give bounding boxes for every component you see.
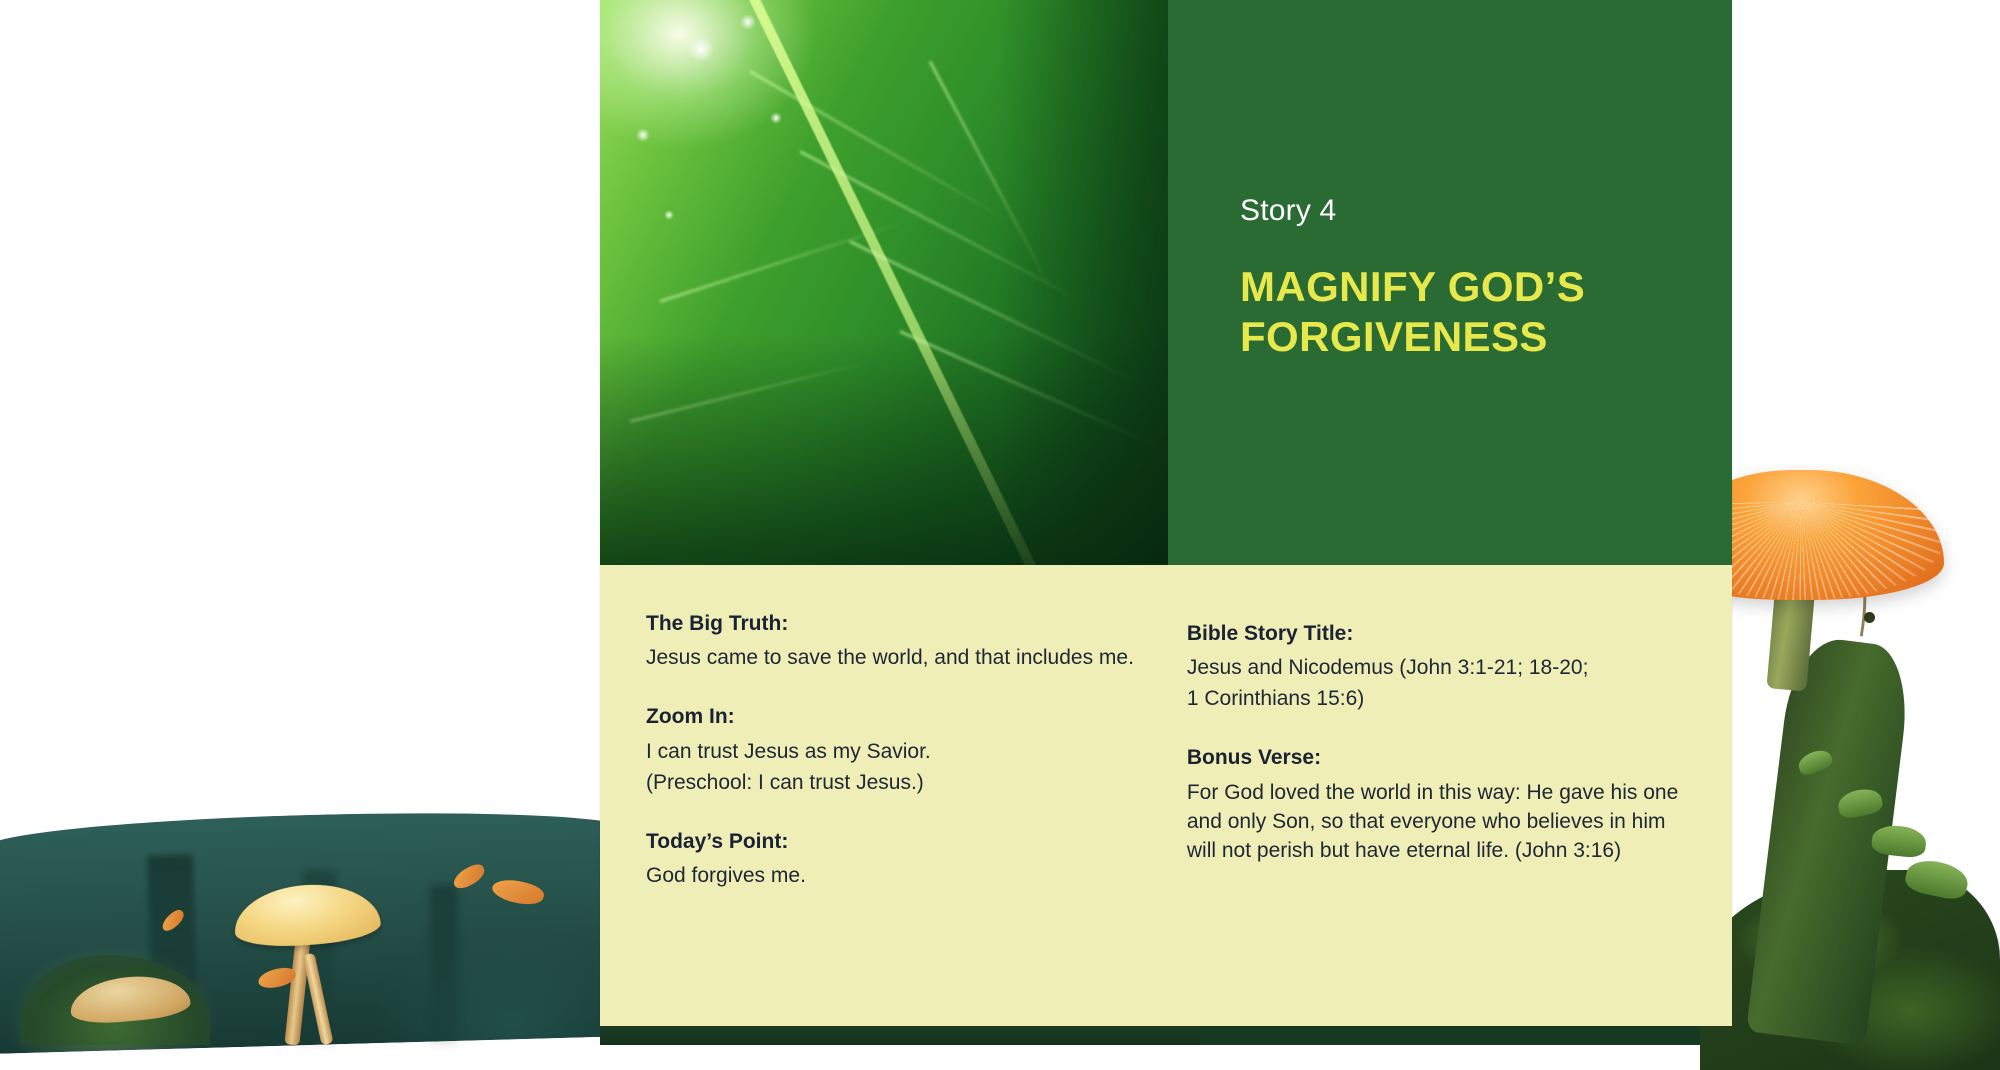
- block-text: For God loved the world in this way: He …: [1187, 779, 1682, 866]
- forest-moss-clump: [20, 955, 210, 1045]
- text-block: The Big Truth:Jesus came to save the wor…: [646, 610, 1147, 673]
- light-sparkle-icon: [636, 128, 650, 142]
- forest-tree-trunk: [430, 885, 458, 1045]
- moss-tuft: [1903, 856, 1971, 902]
- block-text: God forgives me.: [646, 862, 1147, 891]
- falling-leaf-icon: [257, 966, 298, 990]
- story-card: Story 4 MAGNIFY GOD’S FORGIVENESS The Bi…: [600, 0, 1732, 1026]
- block-label: Zoom In:: [646, 703, 1147, 731]
- forest-floor-image: [0, 806, 633, 1054]
- light-sparkle-icon: [770, 112, 782, 124]
- block-text: I can trust Jesus as my Savior.: [646, 738, 1147, 767]
- text-block: Bonus Verse:For God loved the world in t…: [1187, 744, 1682, 865]
- leaf-vein: [660, 220, 908, 303]
- falling-leaf-icon: [490, 875, 546, 909]
- card-body: The Big Truth:Jesus came to save the wor…: [600, 565, 1732, 1026]
- forest-tree-trunk: [297, 869, 337, 1045]
- falling-leaf-icon: [450, 861, 488, 892]
- card-header: Story 4 MAGNIFY GOD’S FORGIVENESS: [600, 0, 1732, 565]
- small-mushroom-icon: [68, 972, 191, 1026]
- light-sparkle-icon: [664, 210, 674, 220]
- text-block: Zoom In:I can trust Jesus as my Savior.(…: [646, 703, 1147, 797]
- yellow-mushroom-cap: [232, 880, 382, 950]
- block-label: Today’s Point:: [646, 828, 1147, 856]
- right-column: Bible Story Title:Jesus and Nicodemus (J…: [1187, 610, 1682, 1026]
- block-label: Bonus Verse:: [1187, 744, 1682, 772]
- mushroom-stem: [284, 937, 310, 1046]
- left-column: The Big Truth:Jesus came to save the wor…: [646, 610, 1187, 1026]
- leaf-shade-bottom: [600, 335, 1168, 565]
- leaf-vein: [749, 70, 1010, 223]
- moss-tuft: [1871, 823, 1928, 858]
- block-text: Jesus came to save the world, and that i…: [646, 644, 1147, 673]
- mossy-rock: [1700, 870, 2000, 1070]
- page-title: MAGNIFY GOD’S FORGIVENESS: [1240, 262, 1660, 361]
- falling-leaf-icon: [159, 907, 187, 934]
- block-text: Jesus and Nicodemus (John 3:1-21; 18-20;: [1187, 654, 1682, 683]
- mushroom-tendril: [1804, 516, 1878, 636]
- moss-tuft: [1795, 746, 1834, 777]
- light-sparkle-icon: [740, 14, 756, 30]
- block-label: Bible Story Title:: [1187, 620, 1682, 648]
- mushroom-spore-dot: [1864, 612, 1875, 623]
- forest-tree-trunk: [147, 854, 200, 1045]
- text-block: Bible Story Title:Jesus and Nicodemus (J…: [1187, 620, 1682, 714]
- block-text: 1 Corinthians 15:6): [1187, 685, 1682, 714]
- text-block: Today’s Point:God forgives me.: [646, 828, 1147, 891]
- story-number-label: Story 4: [1240, 196, 1732, 226]
- leaf-photo: [600, 0, 1168, 565]
- bottom-green-strip: [600, 1023, 2000, 1045]
- mushroom-stem: [1766, 559, 1817, 692]
- block-label: The Big Truth:: [646, 610, 1147, 638]
- title-panel: Story 4 MAGNIFY GOD’S FORGIVENESS: [1168, 0, 1732, 565]
- mossy-stalk: [1746, 634, 1914, 1046]
- light-sparkle-icon: [688, 36, 714, 62]
- mushroom-stem: [303, 953, 334, 1045]
- block-text: (Preschool: I can trust Jesus.): [646, 769, 1147, 798]
- moss-tuft: [1836, 786, 1884, 821]
